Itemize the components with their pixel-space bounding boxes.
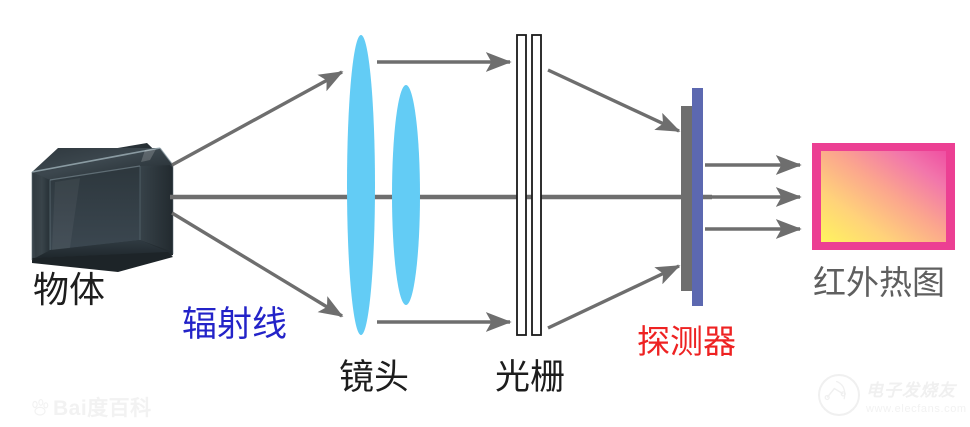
- ray-lower-grating-to-detector: [548, 266, 679, 328]
- ray-group-detector-to-image: [705, 165, 800, 229]
- lens-assembly: [347, 35, 420, 335]
- diagram-canvas: 物体 辐射线 镜头 光栅 探测器 红外热图 Bai度百科 电子发烧友: [0, 0, 970, 427]
- label-object: 物体: [33, 272, 105, 308]
- lens-rear-element: [392, 85, 420, 305]
- grating-plate-1: [517, 35, 526, 335]
- grating-assembly: [517, 35, 541, 335]
- ray-lower-object-to-lens: [172, 213, 342, 316]
- ray-upper-object-to-lens: [172, 72, 342, 165]
- ray-group-object-to-lens: [172, 72, 342, 316]
- label-grating: 光栅: [495, 360, 565, 395]
- detector-assembly: [681, 88, 703, 306]
- object-cube: [32, 143, 173, 272]
- label-lens: 镜头: [339, 360, 409, 395]
- label-radiation: 辐射线: [182, 307, 287, 342]
- detector-gray-plate: [681, 106, 693, 291]
- label-detector: 探测器: [637, 325, 736, 358]
- thermal-image-gradient: [821, 151, 946, 242]
- ray-upper-grating-to-detector: [548, 70, 679, 131]
- detector-blue-plate: [692, 88, 703, 306]
- thermal-image-panel: [812, 143, 955, 250]
- grating-plate-2: [532, 35, 541, 335]
- lens-front-element: [347, 35, 375, 335]
- optical-path-diagram: [0, 0, 970, 427]
- label-thermal-image: 红外热图: [813, 266, 945, 299]
